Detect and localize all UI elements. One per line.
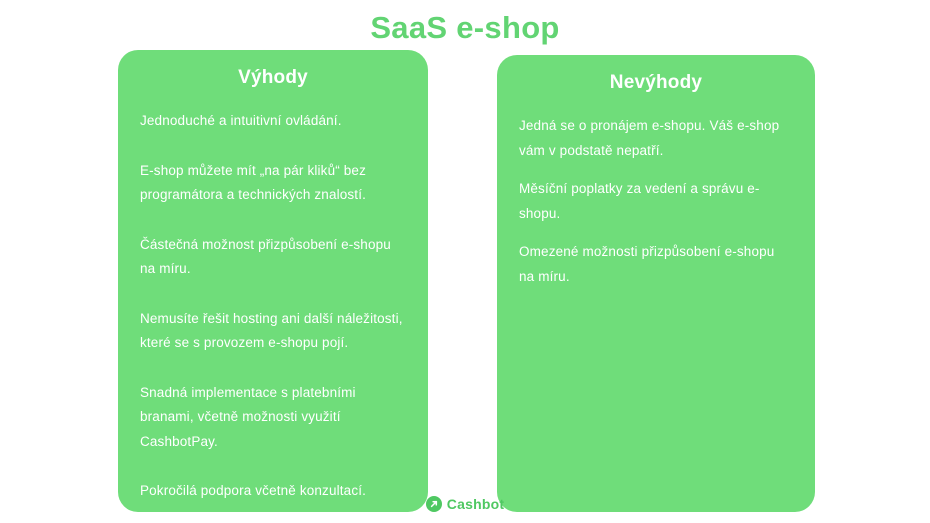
list-item: Snadná implementace s platebními branami… (140, 381, 406, 455)
pros-list: Jednoduché a intuitivní ovládání. E-shop… (140, 109, 406, 504)
pros-card-heading: Výhody (140, 66, 406, 90)
list-item: Jedná se o pronájem e-shopu. Váš e-shop … (519, 114, 793, 163)
page-title: SaaS e-shop (0, 8, 930, 48)
list-item: E-shop můžete mít „na pár kliků“ bez pro… (140, 159, 406, 208)
list-item: Jednoduché a intuitivní ovládání. (140, 109, 406, 134)
list-item: Omezené možnosti přizpůsobení e-shopu na… (519, 240, 793, 289)
brand-logo: Cashbot (0, 496, 930, 512)
arrow-up-right-icon (426, 496, 442, 512)
pros-card: Výhody Jednoduché a intuitivní ovládání.… (118, 50, 428, 512)
list-item: Částečná možnost přizpůsobení e-shopu na… (140, 233, 406, 282)
slide-root: SaaS e-shop Výhody Jednoduché a intuitiv… (0, 0, 930, 523)
brand-name: Cashbot (447, 496, 504, 512)
cons-card: Nevýhody Jedná se o pronájem e-shopu. Vá… (497, 55, 815, 512)
cons-list: Jedná se o pronájem e-shopu. Váš e-shop … (519, 114, 793, 289)
list-item: Měsíční poplatky za vedení a správu e-sh… (519, 177, 793, 226)
list-item: Nemusíte řešit hosting ani další náležit… (140, 307, 406, 356)
cons-card-heading: Nevýhody (519, 71, 793, 95)
